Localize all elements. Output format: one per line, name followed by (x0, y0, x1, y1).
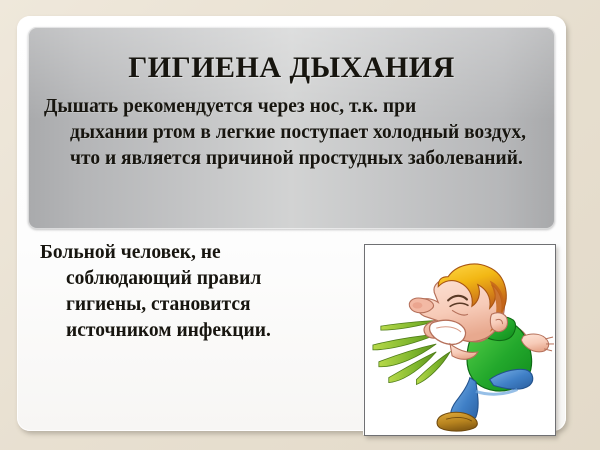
sneezing-man-illustration-icon (365, 245, 555, 435)
lead-paragraph: Дышать рекомендуется через нос, т.к. при… (28, 83, 555, 172)
lead-first-line: Дышать рекомендуется через нос, т.к. при (44, 96, 416, 117)
bottom-region: Больной человек, не соблюдающий правил г… (28, 238, 555, 420)
slide: ГИГИЕНА ДЫХАНИЯ Дышать рекомендуется чер… (0, 0, 600, 450)
body-remaining-lines: соблюдающий правил гигиены, становится и… (40, 266, 340, 344)
body-paragraph: Больной человек, не соблюдающий правил г… (40, 240, 340, 345)
page-title: ГИГИЕНА ДЫХАНИЯ (28, 27, 555, 83)
headline-panel: ГИГИЕНА ДЫХАНИЯ Дышать рекомендуется чер… (28, 27, 555, 229)
body-first-line: Больной человек, не (40, 242, 221, 263)
content-card: ГИГИЕНА ДЫХАНИЯ Дышать рекомендуется чер… (17, 16, 566, 431)
lead-remaining-lines: дыхании ртом в легкие поступает холодный… (44, 120, 535, 172)
illustration-frame (364, 244, 556, 436)
